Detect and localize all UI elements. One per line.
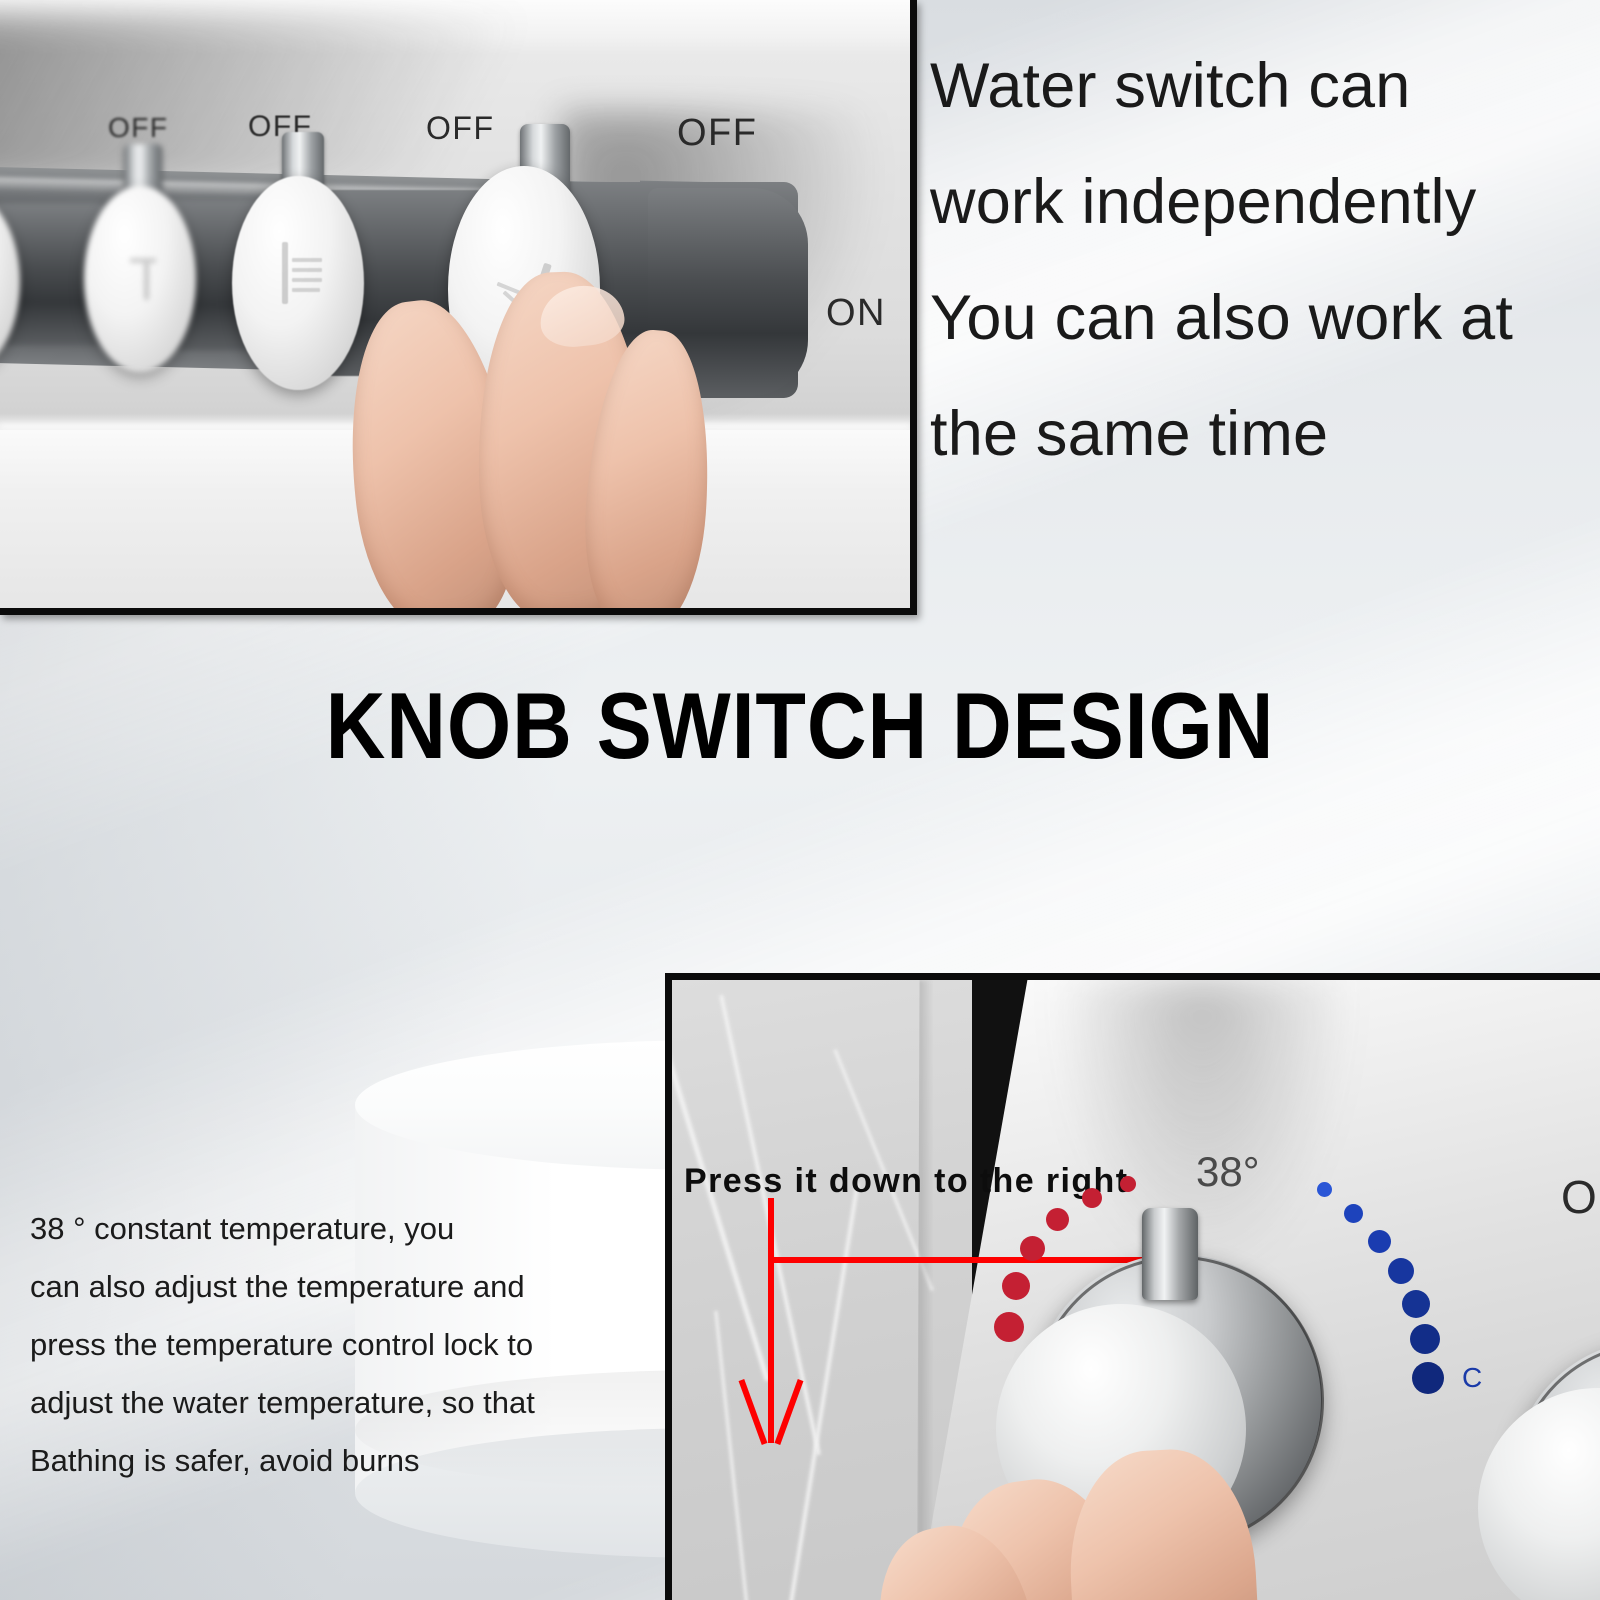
label-off-3: OFF	[426, 110, 494, 147]
label-off-1: OFF	[108, 112, 169, 144]
arrow-vertical-stem	[768, 1198, 774, 1443]
tub-spout-icon	[128, 258, 168, 304]
feature-text-block: Water switch can work independently You …	[930, 28, 1600, 492]
temperature-line-3: press the temperature control lock to	[30, 1316, 650, 1374]
cold-dot-7	[1412, 1362, 1444, 1394]
product-infographic: OFF OFF OFF OFF ON	[0, 0, 1600, 1600]
callout-press-down-right: Press it down to the right	[684, 1162, 1128, 1201]
temperature-line-2: can also adjust the temperature and	[30, 1258, 650, 1316]
hot-dot-3	[1046, 1208, 1069, 1231]
feature-text-line-2: work independently	[930, 144, 1600, 260]
label-on: ON	[826, 292, 886, 335]
photo-thermostat-knob: Press it down to the right 38° C H O	[665, 973, 1600, 1600]
temperature-38-label: 38°	[1196, 1148, 1260, 1196]
feature-text-line-4: the same time	[930, 376, 1600, 492]
photo-knob-row: OFF OFF OFF OFF ON	[0, 0, 917, 615]
hot-dot-4	[1020, 1236, 1045, 1261]
hot-dot-1	[1120, 1176, 1136, 1192]
thermostat-plate-edge	[917, 980, 933, 1600]
temperature-line-4: adjust the water temperature, so that	[30, 1374, 650, 1432]
arrow-horizontal-stem	[768, 1257, 1178, 1263]
temperature-line-1: 38 ° constant temperature, you	[30, 1200, 650, 1258]
hot-dot-2	[1082, 1188, 1102, 1208]
right-marker-label: O	[1561, 1170, 1597, 1224]
cold-dot-1	[1317, 1182, 1332, 1197]
cold-marker-label: C	[1462, 1362, 1482, 1394]
temperature-description-block: 38 ° constant temperature, you can also …	[30, 1200, 650, 1490]
cold-dot-5	[1402, 1290, 1430, 1318]
hot-dot-6	[994, 1312, 1024, 1342]
thermostat-plate-shadow	[1052, 980, 1352, 1280]
feature-text-line-3: You can also work at	[930, 260, 1600, 376]
cold-dot-4	[1388, 1258, 1414, 1284]
page-headline: KNOB SWITCH DESIGN	[96, 672, 1504, 780]
cold-dot-6	[1410, 1324, 1440, 1354]
feature-text-line-1: Water switch can	[930, 28, 1600, 144]
temperature-line-5: Bathing is safer, avoid burns	[30, 1432, 650, 1490]
cold-dot-2	[1344, 1204, 1363, 1223]
rain-shower-icon	[276, 242, 332, 306]
label-off-4: OFF	[677, 112, 757, 155]
cold-dot-3	[1368, 1230, 1391, 1253]
thermostat-lock-pin[interactable]	[1142, 1208, 1198, 1300]
hot-dot-5	[1002, 1272, 1030, 1300]
